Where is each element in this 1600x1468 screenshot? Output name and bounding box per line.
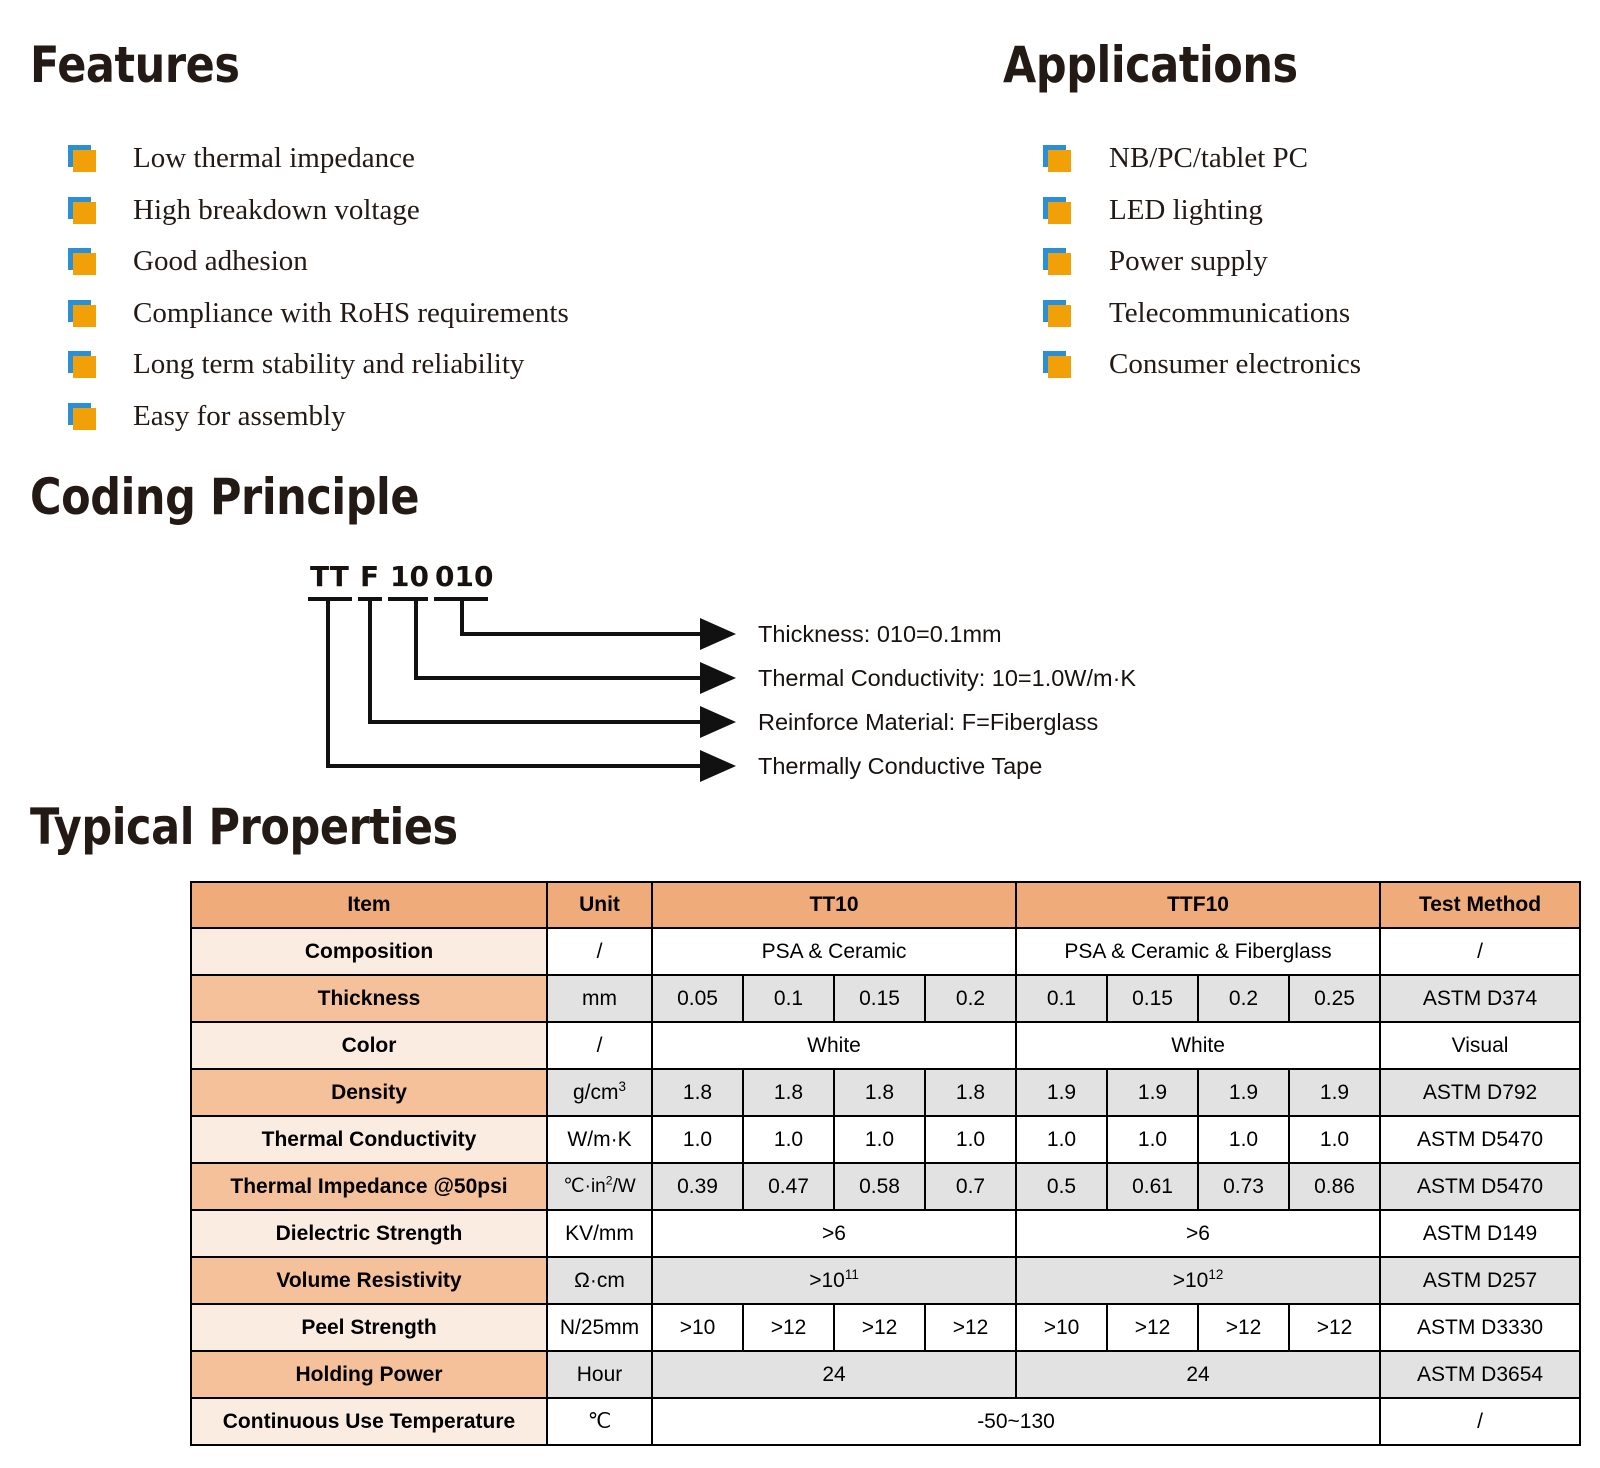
value-base: >10 [809,1269,845,1292]
header-test-method: Test Method [1380,882,1580,928]
table-row: Volume Resistivity Ω·cm >1011 >1012 ASTM… [191,1257,1580,1304]
list-item: Low thermal impedance [68,133,569,185]
list-item: LED lighting [1043,185,1361,237]
coding-label-thermal-conductivity: Thermal Conductivity: 10=1.0W/m·K [758,667,1136,691]
cell-tt10: 1.8 [834,1069,925,1116]
cell-test: ASTM D5470 [1380,1163,1580,1210]
cell-tt10: 0.39 [652,1163,743,1210]
cell-tt10: >12 [925,1304,1016,1351]
cell-tt10: 0.1 [743,975,834,1022]
cell-ttf10: 1.9 [1016,1069,1107,1116]
value-superscript: 11 [845,1267,859,1282]
feature-label: Easy for assembly [133,402,346,431]
cell-tt10: >12 [743,1304,834,1351]
list-item: Easy for assembly [68,391,569,443]
application-label: NB/PC/tablet PC [1109,144,1308,173]
cell-tt10: 24 [652,1351,1016,1398]
header-ttf10: TTF10 [1016,882,1380,928]
cell-tt10: 0.05 [652,975,743,1022]
row-label: Continuous Use Temperature [191,1398,547,1445]
row-label: Thickness [191,975,547,1022]
feature-label: High breakdown voltage [133,196,420,225]
cell-ttf10: PSA & Ceramic & Fiberglass [1016,928,1380,975]
cell-test: ASTM D5470 [1380,1116,1580,1163]
cell-unit: / [547,928,652,975]
cell-tt10: 1.8 [743,1069,834,1116]
table-row: Continuous Use Temperature ℃ -50~130 / [191,1398,1580,1445]
cell-ttf10: >12 [1289,1304,1380,1351]
cell-tt10: 1.8 [925,1069,1016,1116]
application-label: Consumer electronics [1109,350,1361,379]
cell-tt10: 0.7 [925,1163,1016,1210]
list-item: Power supply [1043,236,1361,288]
row-label: Peel Strength [191,1304,547,1351]
cell-ttf10: 0.73 [1198,1163,1289,1210]
cell-tt10: 1.0 [743,1116,834,1163]
cell-tt10: >10 [652,1304,743,1351]
cell-ttf10: 1.0 [1198,1116,1289,1163]
cell-unit: N/25mm [547,1304,652,1351]
table-row: Thermal Conductivity W/m·K 1.0 1.0 1.0 1… [191,1116,1580,1163]
row-label: Volume Resistivity [191,1257,547,1304]
cell-ttf10: 24 [1016,1351,1380,1398]
cell-tt10: 0.58 [834,1163,925,1210]
cell-unit: / [547,1022,652,1069]
cell-ttf10: 1.0 [1016,1116,1107,1163]
list-item: High breakdown voltage [68,185,569,237]
cell-unit: KV/mm [547,1210,652,1257]
table-row: Color / White White Visual [191,1022,1580,1069]
cell-unit: Hour [547,1351,652,1398]
cell-ttf10: 1.9 [1198,1069,1289,1116]
application-label: LED lighting [1109,196,1263,225]
square-bullet-icon [68,145,97,172]
cell-test: ASTM D257 [1380,1257,1580,1304]
feature-label: Compliance with RoHS requirements [133,299,569,328]
cell-ttf10: >12 [1198,1304,1289,1351]
square-bullet-icon [1043,300,1072,327]
row-label: Composition [191,928,547,975]
row-label: Color [191,1022,547,1069]
unit-base: g/cm [573,1081,619,1104]
cell-ttf10: White [1016,1022,1380,1069]
cell-test: ASTM D3330 [1380,1304,1580,1351]
features-heading: Features [30,36,240,94]
features-list: Low thermal impedance High breakdown vol… [68,133,569,442]
cell-test: ASTM D792 [1380,1069,1580,1116]
square-bullet-icon [68,300,97,327]
row-label: Density [191,1069,547,1116]
cell-ttf10: 1.0 [1289,1116,1380,1163]
table-row: Density g/cm3 1.8 1.8 1.8 1.8 1.9 1.9 1.… [191,1069,1580,1116]
coding-principle-diagram: TT F 10 010 Thickness: 010=0.1mm Thermal… [300,552,1460,787]
cell-tt10: White [652,1022,1016,1069]
header-tt10: TT10 [652,882,1016,928]
cell-ttf10: 0.2 [1198,975,1289,1022]
header-unit: Unit [547,882,652,928]
square-bullet-icon [68,403,97,430]
coding-label-tape: Thermally Conductive Tape [758,755,1042,779]
value-base: >10 [1173,1269,1209,1292]
cell-test: Visual [1380,1022,1580,1069]
cell-unit: W/m·K [547,1116,652,1163]
cell-ttf10: >12 [1107,1304,1198,1351]
cell-unit: mm [547,975,652,1022]
cell-test: / [1380,1398,1580,1445]
typical-properties-heading: Typical Properties [30,798,458,856]
cell-tt10: >6 [652,1210,1016,1257]
list-item: Consumer electronics [1043,339,1361,391]
cell-tt10: 1.0 [925,1116,1016,1163]
cell-unit: ℃ [547,1398,652,1445]
table-row: Thickness mm 0.05 0.1 0.15 0.2 0.1 0.15 … [191,975,1580,1022]
cell-combined: -50~130 [652,1398,1380,1445]
cell-ttf10: 0.5 [1016,1163,1107,1210]
code-part-10: 10 [390,560,429,593]
cell-ttf10: 0.1 [1016,975,1107,1022]
coding-label-reinforce-material: Reinforce Material: F=Fiberglass [758,711,1098,735]
table-row: Holding Power Hour 24 24 ASTM D3654 [191,1351,1580,1398]
application-label: Telecommunications [1109,299,1350,328]
header-item: Item [191,882,547,928]
cell-test: ASTM D3654 [1380,1351,1580,1398]
applications-heading: Applications [1003,36,1298,94]
applications-list: NB/PC/tablet PC LED lighting Power suppl… [1043,133,1361,391]
cell-ttf10: 0.86 [1289,1163,1380,1210]
cell-test: ASTM D374 [1380,975,1580,1022]
cell-ttf10: 0.25 [1289,975,1380,1022]
cell-tt10: 0.2 [925,975,1016,1022]
cell-tt10: 0.15 [834,975,925,1022]
cell-ttf10: >1012 [1016,1257,1380,1304]
cell-unit: g/cm3 [547,1069,652,1116]
cell-ttf10: 0.61 [1107,1163,1198,1210]
list-item: Long term stability and reliability [68,339,569,391]
unit-base: ℃·in [563,1176,605,1197]
square-bullet-icon [1043,351,1072,378]
list-item: NB/PC/tablet PC [1043,133,1361,185]
unit-tail: /W [613,1176,636,1197]
square-bullet-icon [68,248,97,275]
value-superscript: 12 [1208,1267,1223,1282]
row-label: Dielectric Strength [191,1210,547,1257]
coding-principle-heading: Coding Principle [30,468,419,526]
square-bullet-icon [1043,197,1072,224]
cell-tt10: PSA & Ceramic [652,928,1016,975]
code-part-010: 010 [435,560,493,593]
cell-ttf10: >6 [1016,1210,1380,1257]
code-part-tt: TT [310,560,349,593]
application-label: Power supply [1109,247,1268,276]
feature-label: Good adhesion [133,247,308,276]
unit-superscript: 3 [619,1079,626,1094]
table-row: Dielectric Strength KV/mm >6 >6 ASTM D14… [191,1210,1580,1257]
cell-unit: Ω·cm [547,1257,652,1304]
cell-tt10: 1.0 [834,1116,925,1163]
table-row: Peel Strength N/25mm >10 >12 >12 >12 >10… [191,1304,1580,1351]
feature-label: Long term stability and reliability [133,350,524,379]
list-item: Telecommunications [1043,288,1361,340]
cell-tt10: 0.47 [743,1163,834,1210]
cell-ttf10: 0.15 [1107,975,1198,1022]
row-label: Holding Power [191,1351,547,1398]
cell-tt10: >12 [834,1304,925,1351]
cell-tt10: >1011 [652,1257,1016,1304]
cell-ttf10: >10 [1016,1304,1107,1351]
table-row: Composition / PSA & Ceramic PSA & Cerami… [191,928,1580,975]
cell-tt10: 1.0 [652,1116,743,1163]
cell-tt10: 1.8 [652,1069,743,1116]
cell-unit: ℃·in2/W [547,1163,652,1210]
list-item: Compliance with RoHS requirements [68,288,569,340]
unit-superscript: 2 [606,1174,613,1188]
row-label: Thermal Conductivity [191,1116,547,1163]
row-label: Thermal Impedance @50psi [191,1163,547,1210]
code-part-f: F [360,560,379,593]
cell-test: / [1380,928,1580,975]
typical-properties-table: Item Unit TT10 TTF10 Test Method Composi… [190,881,1581,1446]
cell-test: ASTM D149 [1380,1210,1580,1257]
cell-ttf10: 1.9 [1289,1069,1380,1116]
coding-label-thickness: Thickness: 010=0.1mm [758,623,1002,647]
table-header-row: Item Unit TT10 TTF10 Test Method [191,882,1580,928]
cell-ttf10: 1.0 [1107,1116,1198,1163]
cell-ttf10: 1.9 [1107,1069,1198,1116]
square-bullet-icon [68,351,97,378]
feature-label: Low thermal impedance [133,144,415,173]
square-bullet-icon [68,197,97,224]
table-row: Thermal Impedance @50psi ℃·in2/W 0.39 0.… [191,1163,1580,1210]
square-bullet-icon [1043,248,1072,275]
list-item: Good adhesion [68,236,569,288]
square-bullet-icon [1043,145,1072,172]
